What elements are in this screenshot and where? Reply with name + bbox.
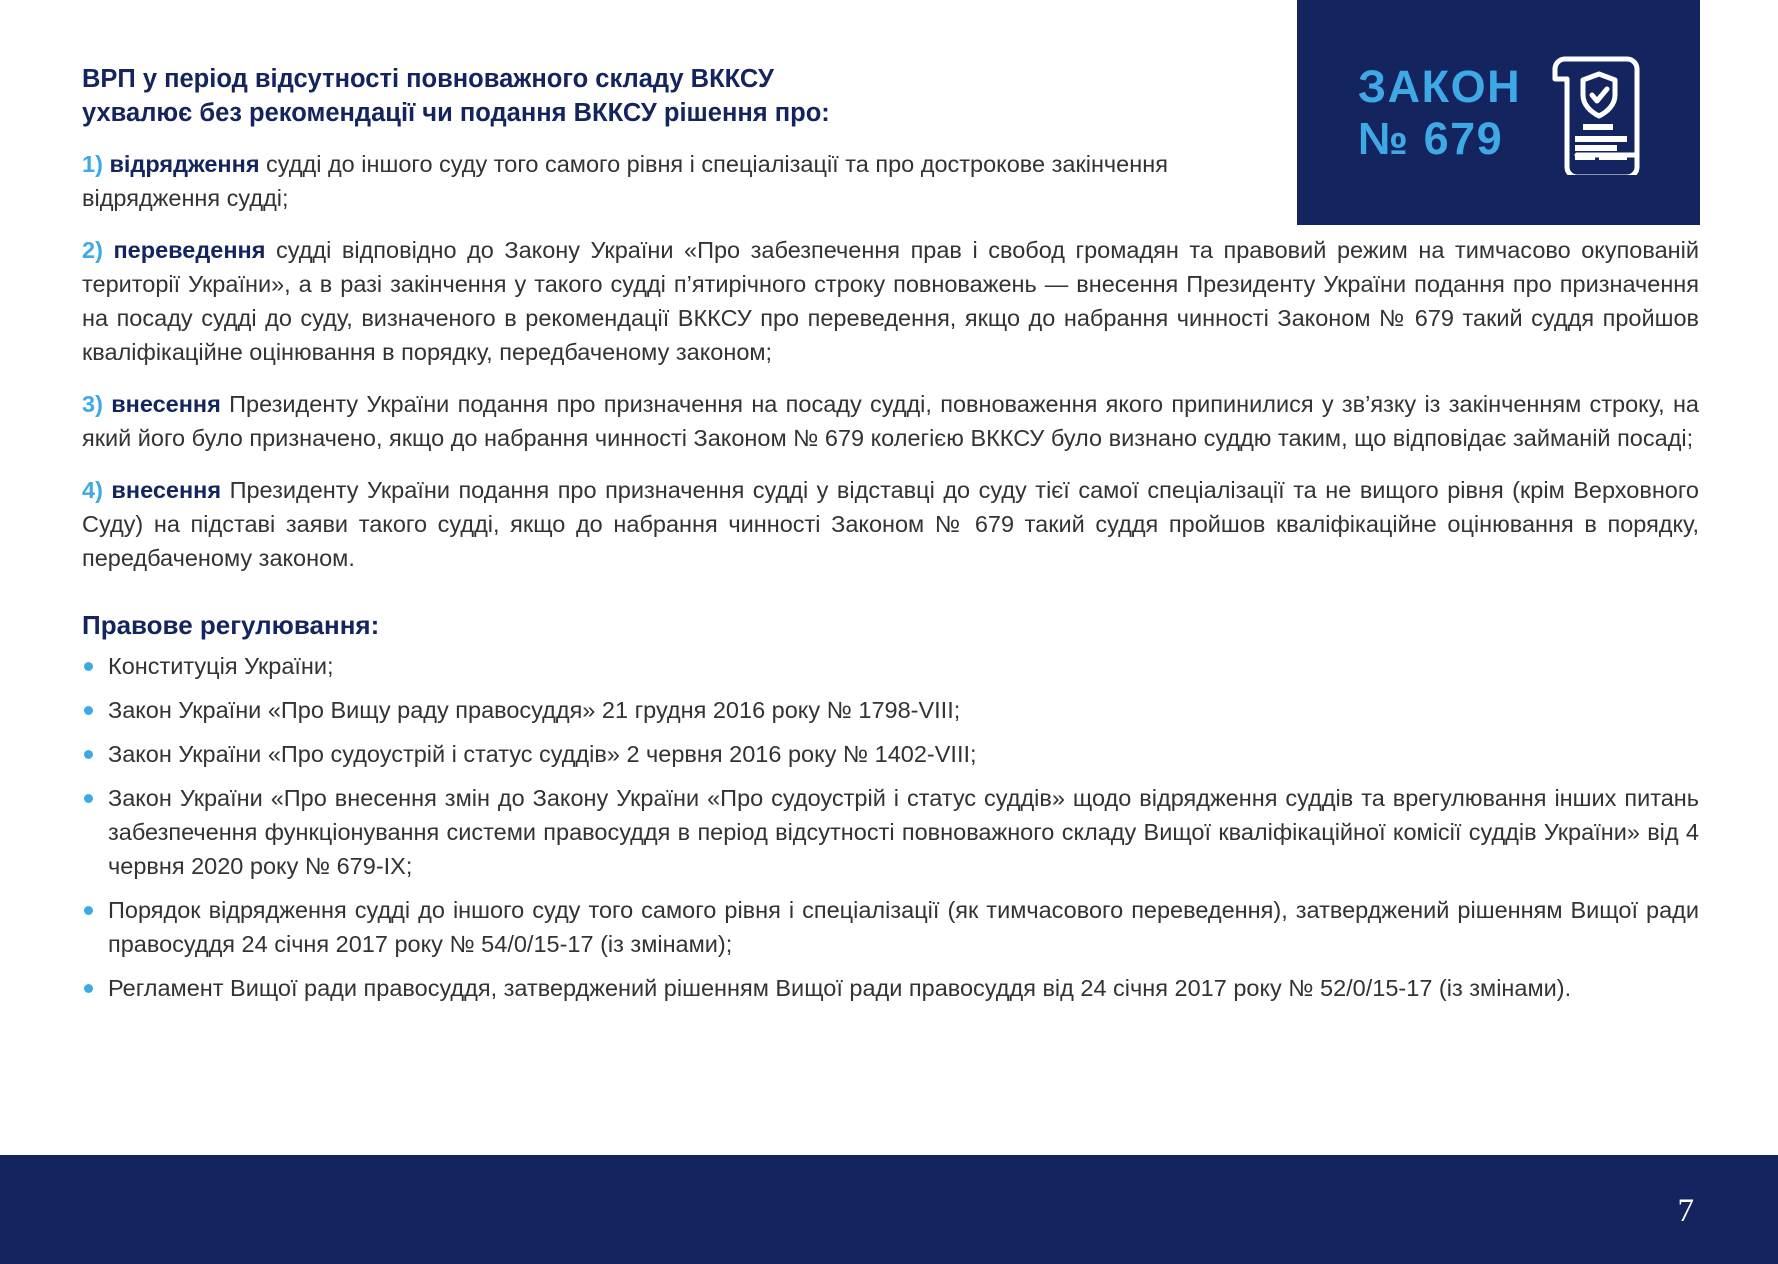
document-content: ВРП у період відсутності повноважного ск… [82,62,1699,1015]
clause-number: 2) [82,237,103,263]
clause-term: відрядження [109,151,259,177]
clause-number: 4) [82,477,103,503]
clause-item: 2) переведення судді відповідно до Закон… [82,233,1699,369]
clause-number: 3) [82,391,103,417]
clause-text: Президенту України подання про призначен… [82,477,1699,571]
clause-number: 1) [82,151,103,177]
clause-text: судді відповідно до Закону України «Про … [82,237,1699,365]
clause-text: Президенту України подання про призначен… [82,391,1699,451]
page-number: 7 [1678,1195,1695,1228]
legal-regulation-title: Правове регулювання: [82,610,1699,641]
list-item: Регламент Вищої ради правосуддя, затверд… [82,971,1699,1005]
clause-item: 1) відрядження судді до іншого суду того… [82,147,1262,215]
footer-bar [0,1155,1778,1264]
legal-regulation-list: Конституція України; Закон України «Про … [82,649,1699,1006]
list-item: Закон України «Про судоустрій і статус с… [82,737,1699,771]
list-item: Закон України «Про Вищу раду правосуддя»… [82,693,1699,727]
list-item: Конституція України; [82,649,1699,683]
list-item: Порядок відрядження судді до іншого суду… [82,893,1699,961]
clause-term: внесення [111,391,221,417]
page-title-line2: ухвалює без рекомендації чи подання ВККС… [82,96,1262,130]
clause-item: 3) внесення Президенту України подання п… [82,387,1699,455]
page-title-line1: ВРП у період відсутності повноважного ск… [82,62,1262,96]
document-page: ЗАКОН № 679 [0,0,1778,1264]
clause-term: переведення [113,237,265,263]
list-item: Закон України «Про внесення змін до Зако… [82,781,1699,883]
clause-term: внесення [111,477,221,503]
page-title: ВРП у період відсутності повноважного ск… [82,62,1262,131]
clause-item: 4) внесення Президенту України подання п… [82,473,1699,575]
